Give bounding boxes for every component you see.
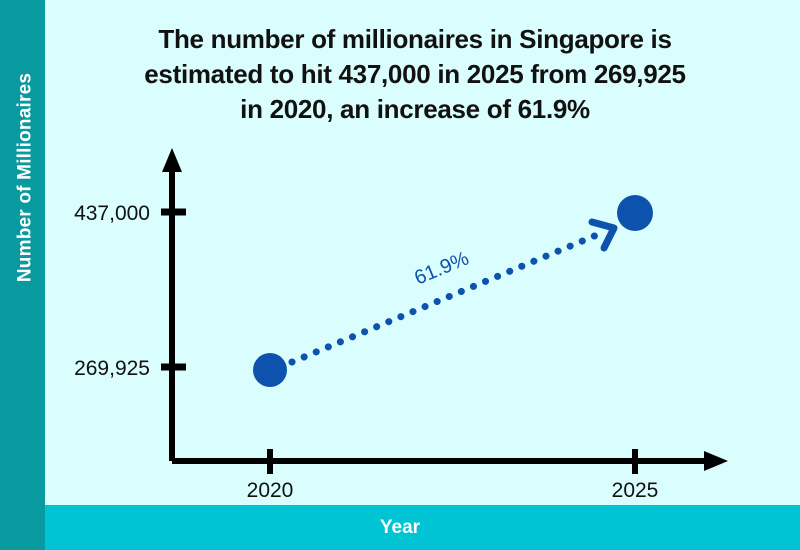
x-axis-arrow-icon <box>704 451 728 471</box>
growth-annotation-label: 61.9% <box>411 247 472 289</box>
page-title: The number of millionaires in Singapore … <box>60 22 770 127</box>
x-tick-label-2020: 2020 <box>247 479 294 502</box>
trend-dotted-line <box>292 232 604 362</box>
y-tick-label-bottom: 269,925 <box>74 357 150 380</box>
y-tick-label-top: 437,000 <box>74 202 150 225</box>
data-point-2020[interactable] <box>253 353 287 387</box>
title-line-2: estimated to hit 437,000 in 2025 from 26… <box>60 57 770 92</box>
infographic-canvas: Number of Millionaires Year The number o… <box>0 0 800 550</box>
title-line-1: The number of millionaires in Singapore … <box>60 22 770 57</box>
x-tick-label-2025: 2025 <box>612 479 659 502</box>
y-axis-arrow-icon <box>162 148 182 172</box>
title-line-3: in 2020, an increase of 61.9% <box>60 92 770 127</box>
data-point-2025[interactable] <box>617 195 653 231</box>
